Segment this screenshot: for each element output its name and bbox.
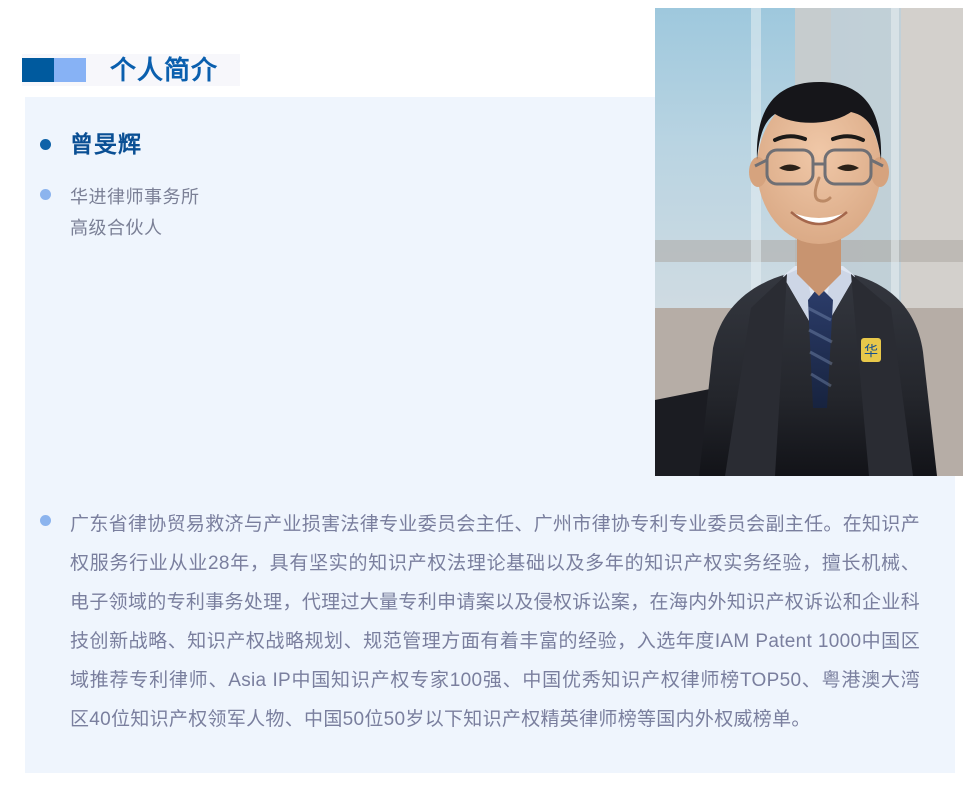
portrait-illustration: 华 xyxy=(655,8,963,476)
affiliation-firm: 华进律师事务所 xyxy=(70,182,200,213)
affiliation-role: 高级合伙人 xyxy=(70,213,200,244)
bullet-dark-icon xyxy=(40,139,51,150)
square-dark-icon xyxy=(22,58,54,82)
portrait-photo: 华 xyxy=(655,8,963,476)
section-header: 个人简介 xyxy=(22,54,240,86)
square-light-icon xyxy=(54,58,86,82)
profile-affiliation-row: 华进律师事务所 高级合伙人 xyxy=(40,182,600,244)
page-title: 个人简介 xyxy=(110,54,218,86)
profile-block: 曾旻辉 华进律师事务所 高级合伙人 xyxy=(40,130,600,244)
affiliation-text-group: 华进律师事务所 高级合伙人 xyxy=(70,182,200,244)
bullet-light-icon xyxy=(40,189,51,200)
section-header-strip: 个人简介 xyxy=(22,54,240,86)
svg-text:华: 华 xyxy=(864,344,878,360)
person-name: 曾旻辉 xyxy=(70,130,142,158)
profile-name-row: 曾旻辉 xyxy=(40,130,600,158)
bio-block: 广东省律协贸易救济与产业损害法律专业委员会主任、广州市律协专利专业委员会副主任。… xyxy=(40,505,920,739)
bio-text: 广东省律协贸易救济与产业损害法律专业委员会主任、广州市律协专利专业委员会副主任。… xyxy=(70,505,920,739)
bullet-light-icon xyxy=(40,515,51,526)
